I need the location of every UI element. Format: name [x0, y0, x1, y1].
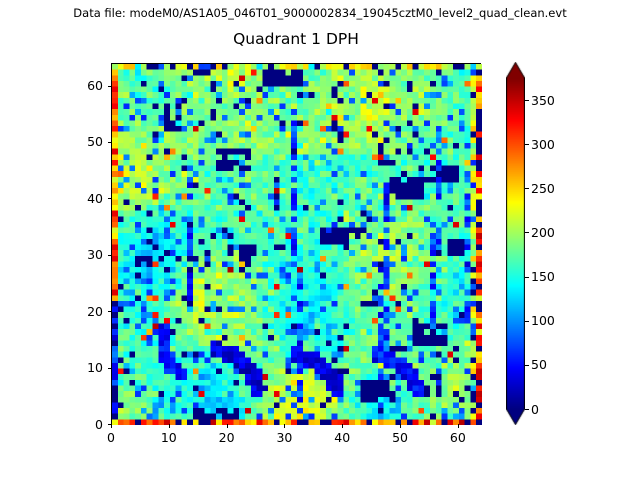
colorbar-tick-label: 100	[531, 313, 555, 328]
y-tick-label: 40	[63, 191, 103, 206]
matplotlib-figure: Data file: modeM0/AS1A05_046T01_90000028…	[0, 0, 640, 480]
y-tick-mark	[108, 424, 112, 425]
colorbar-tick-label: 200	[531, 225, 555, 240]
colorbar-tick-mark	[525, 321, 529, 322]
y-tick-mark	[108, 86, 112, 87]
x-tick-label: 40	[312, 430, 372, 445]
colorbar-tick-label: 50	[531, 357, 547, 372]
colorbar-tick-mark	[525, 277, 529, 278]
x-tick-label: 0	[81, 430, 141, 445]
axes-title: Quadrant 1 DPH	[111, 30, 481, 49]
y-tick-mark	[108, 311, 112, 312]
y-tick-label: 20	[63, 304, 103, 319]
y-tick-mark	[108, 255, 112, 256]
x-tick-mark	[169, 424, 170, 428]
colorbar-gradient	[506, 62, 525, 425]
colorbar-tick-label: 250	[531, 181, 555, 196]
colorbar-tick-mark	[525, 409, 529, 410]
colorbar	[506, 62, 525, 425]
y-tick-mark	[108, 142, 112, 143]
x-tick-mark	[458, 424, 459, 428]
colorbar-tick-mark	[525, 144, 529, 145]
colorbar-tick-label: 350	[531, 93, 555, 108]
colorbar-tick-label: 150	[531, 269, 555, 284]
y-tick-label: 30	[63, 247, 103, 262]
y-tick-label: 60	[63, 78, 103, 93]
data-file-suptitle: Data file: modeM0/AS1A05_046T01_90000028…	[0, 6, 640, 20]
x-tick-label: 30	[254, 430, 314, 445]
y-tick-mark	[108, 368, 112, 369]
x-tick-mark	[342, 424, 343, 428]
x-tick-label: 20	[197, 430, 257, 445]
y-tick-label: 0	[63, 417, 103, 432]
heatmap-image	[112, 64, 482, 425]
colorbar-tick-mark	[525, 232, 529, 233]
y-tick-label: 50	[63, 134, 103, 149]
x-tick-mark	[111, 424, 112, 428]
colorbar-tick-mark	[525, 365, 529, 366]
heatmap-axes	[111, 63, 481, 424]
y-tick-label: 10	[63, 360, 103, 375]
colorbar-tick-mark	[525, 100, 529, 101]
x-tick-label: 50	[370, 430, 430, 445]
x-tick-mark	[284, 424, 285, 428]
colorbar-tick-mark	[525, 188, 529, 189]
colorbar-tick-label: 300	[531, 137, 555, 152]
x-tick-label: 10	[139, 430, 199, 445]
colorbar-tick-label: 0	[531, 402, 539, 417]
y-tick-mark	[108, 198, 112, 199]
x-tick-mark	[227, 424, 228, 428]
x-tick-label: 60	[428, 430, 488, 445]
x-tick-mark	[400, 424, 401, 428]
